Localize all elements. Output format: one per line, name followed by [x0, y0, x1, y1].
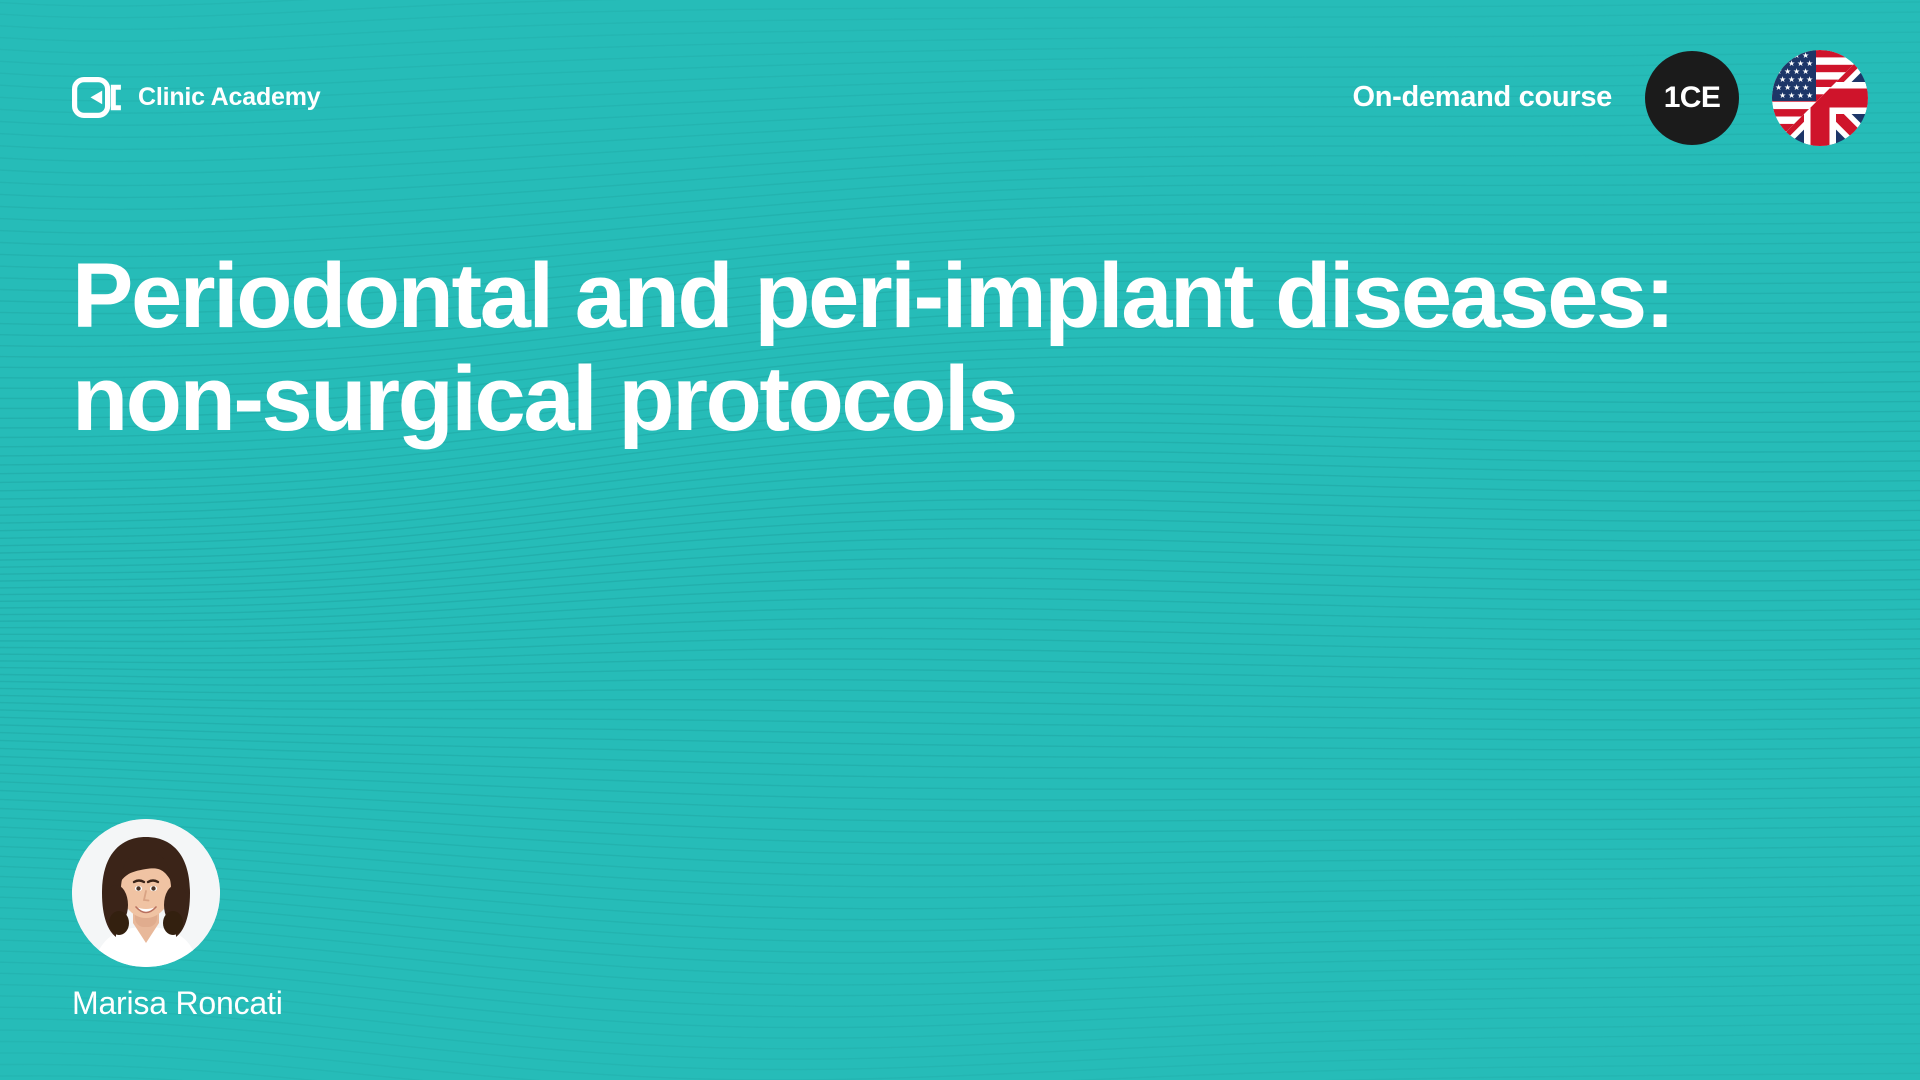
svg-text:★: ★: [1775, 51, 1782, 60]
svg-text:★: ★: [1788, 91, 1795, 100]
header-right-group: On-demand course 1CE: [1353, 50, 1868, 146]
header: Clinic Academy On-demand course 1CE: [0, 0, 1920, 195]
presenter-block: Marisa Roncati: [72, 819, 283, 1022]
brand-logo[interactable]: Clinic Academy: [72, 77, 320, 118]
us-uk-flag-icon: ★★★★ ★★★★ ★★★★ ★★★★ ★★★★ ★★★★: [1772, 50, 1868, 146]
page-title: Periodontal and peri-implant diseases: n…: [72, 245, 1762, 451]
svg-text:★: ★: [1779, 91, 1786, 100]
credit-badge: 1CE: [1645, 51, 1739, 145]
title-block: Periodontal and peri-implant diseases: n…: [72, 245, 1800, 451]
svg-text:★: ★: [1806, 91, 1813, 100]
svg-text:★: ★: [1784, 51, 1791, 60]
presenter-avatar: [72, 819, 220, 967]
presenter-name: Marisa Roncati: [72, 985, 283, 1022]
credit-badge-label: 1CE: [1664, 83, 1721, 113]
brand-name: Clinic Academy: [138, 83, 320, 112]
svg-text:★: ★: [1797, 91, 1804, 100]
video-camera-icon: [72, 77, 121, 118]
course-type-label: On-demand course: [1353, 81, 1612, 114]
